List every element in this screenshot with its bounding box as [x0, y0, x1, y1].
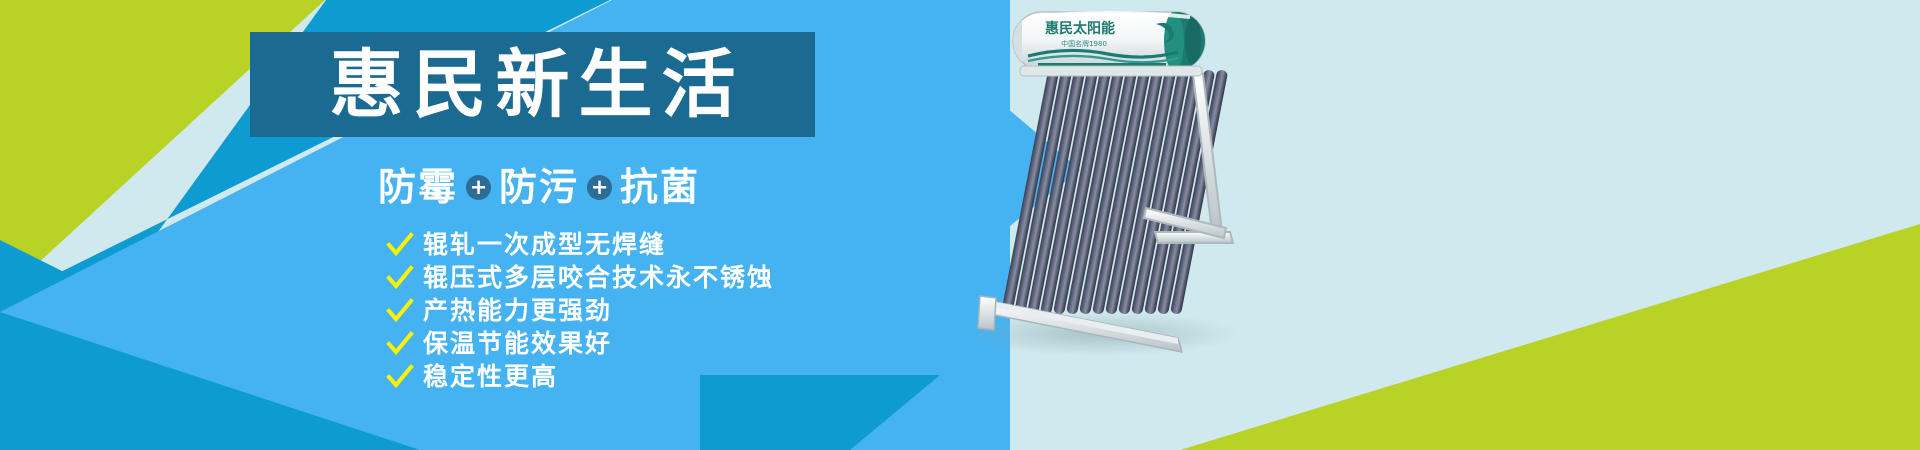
check-icon: [385, 296, 415, 326]
tank-brand-text: 惠民太阳能: [1045, 20, 1115, 37]
feature-label: 保温节能效果好: [423, 331, 612, 356]
check-icon: [385, 362, 415, 392]
list-item: 辊轧一次成型无焊缝: [385, 228, 774, 261]
storage-tank: 惠民太阳能 中国名牌1980: [1013, 12, 1206, 70]
title-banner-box: 惠民新生活: [250, 32, 815, 137]
plus-icon-2: +: [587, 175, 612, 200]
tank-sub-text: 中国名牌1980: [1061, 39, 1107, 48]
subtitle-word-1: 防霉: [378, 168, 458, 206]
solar-water-heater-illustration: 惠民太阳能 中国名牌1980: [950, 0, 1290, 360]
subtitle-row: 防霉 + 防污 + 抗菌: [378, 168, 700, 206]
list-item: 稳定性更高: [385, 360, 774, 393]
tube-header: [1020, 66, 1202, 76]
check-icon: [385, 329, 415, 359]
product-image-solar-water-heater: 惠民太阳能 中国名牌1980: [950, 0, 1290, 360]
feature-list: 辊轧一次成型无焊缝 辊压式多层咬合技术永不锈蚀 产热能力更强劲 保温节能效果好: [385, 228, 774, 393]
list-item: 保温节能效果好: [385, 327, 774, 360]
page-title: 惠民新生活: [321, 48, 745, 122]
feature-label: 稳定性更高: [423, 364, 558, 389]
subtitle-word-3: 抗菌: [620, 168, 700, 206]
subtitle-word-2: 防污: [499, 168, 579, 206]
check-icon: [385, 230, 415, 260]
list-item: 产热能力更强劲: [385, 294, 774, 327]
front-foot: [978, 296, 996, 330]
list-item: 辊压式多层咬合技术永不锈蚀: [385, 261, 774, 294]
evacuated-tubes: [1001, 69, 1228, 315]
plus-icon-1: +: [466, 175, 491, 200]
check-icon: [385, 263, 415, 293]
feature-label: 辊压式多层咬合技术永不锈蚀: [423, 265, 774, 290]
feature-label: 产热能力更强劲: [423, 298, 612, 323]
feature-label: 辊轧一次成型无焊缝: [423, 232, 666, 257]
promotional-banner: 惠民新生活 防霉 + 防污 + 抗菌 辊轧一次成型无焊缝 辊压式多层咬合技术永不…: [0, 0, 1920, 450]
